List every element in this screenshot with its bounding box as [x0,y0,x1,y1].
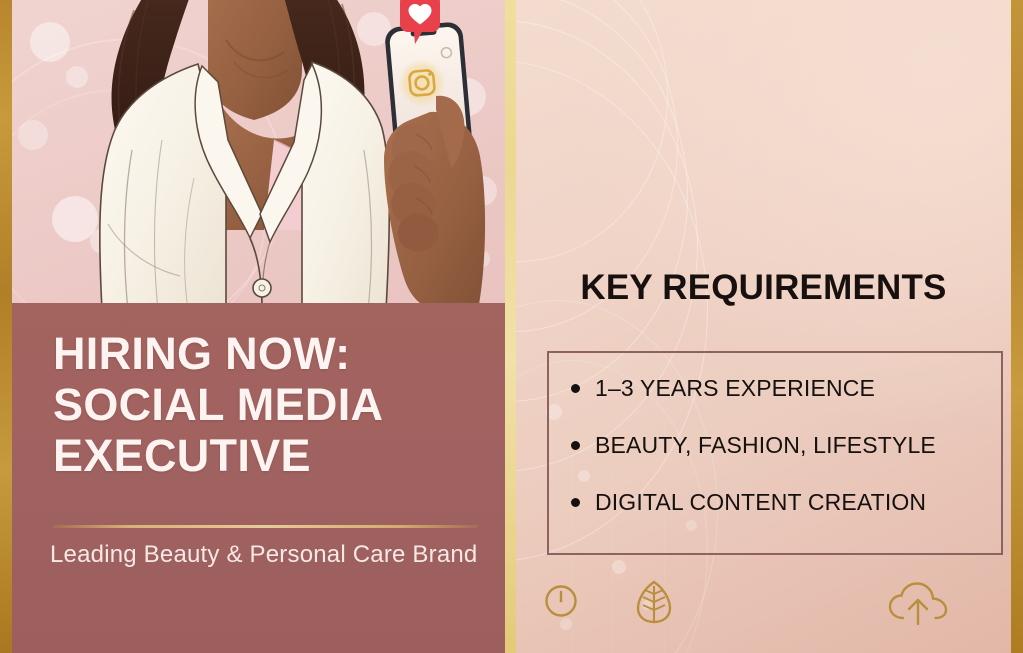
hiring-poster: HIRING NOW: SOCIAL MEDIA EXECUTIVE Leadi… [0,0,1023,653]
headline-line-3: EXECUTIVE [53,430,483,481]
list-item: BEAUTY, FASHION, LIFESTYLE [567,432,992,459]
bokeh-dot [612,560,626,574]
cloud-upload-icon [887,582,951,628]
panel-divider [505,0,516,653]
icon-row [516,578,1011,633]
decorative-swirl [516,0,688,402]
page-title: HIRING NOW: SOCIAL MEDIA EXECUTIVE [53,328,483,481]
section-heading: KEY REQUIREMENTS [516,268,1011,308]
requirements-panel: KEY REQUIREMENTS 1–3 YEARS EXPERIENCE BE… [516,0,1011,653]
subtitle: Leading Beauty & Personal Care Brand [50,541,490,569]
headline-band: HIRING NOW: SOCIAL MEDIA EXECUTIVE Leadi… [12,303,505,653]
gold-divider-rule [53,525,478,528]
list-item: 1–3 YEARS EXPERIENCE [567,375,992,402]
requirements-list: 1–3 YEARS EXPERIENCE BEAUTY, FASHION, LI… [567,375,992,516]
leaf-icon [636,580,672,624]
headline-line-1: HIRING NOW: [53,328,483,379]
right-gold-border [1011,0,1023,653]
left-gold-border [0,0,12,653]
requirements-box: 1–3 YEARS EXPERIENCE BEAUTY, FASHION, LI… [547,351,1003,555]
decorative-swirl [516,0,668,262]
list-item: DIGITAL CONTENT CREATION [567,489,992,516]
clock-icon [544,584,578,618]
woman-illustration [12,0,505,310]
jacket-button [253,279,271,297]
headline-line-2: SOCIAL MEDIA [53,379,483,430]
